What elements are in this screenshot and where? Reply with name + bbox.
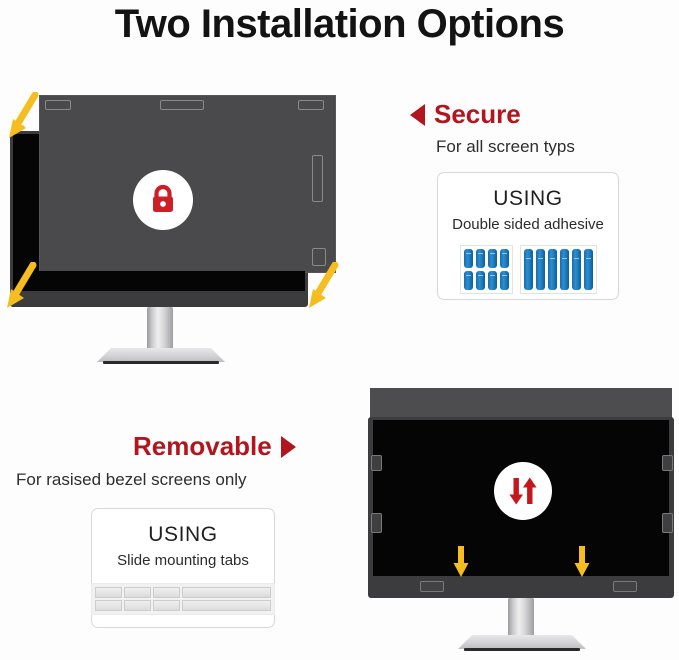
monitor-screen-lower xyxy=(13,271,305,291)
bezel-tab-bottom-left xyxy=(420,581,444,592)
adhesive-strip xyxy=(464,249,473,268)
adhesive-group-tall xyxy=(520,245,597,294)
arrow-diagonal-bottom-right-icon xyxy=(306,262,346,310)
monitor-neck xyxy=(508,598,534,638)
removable-subtitle: For rasised bezel screens only xyxy=(16,470,247,490)
slide-mounting-tabs-icon xyxy=(91,583,275,615)
removable-using-card: USING Slide mounting tabs xyxy=(91,508,275,628)
tab-bar xyxy=(95,587,122,598)
tab-bar xyxy=(124,587,151,598)
adhesive-strips-icon xyxy=(460,245,597,294)
secure-subtitle: For all screen typs xyxy=(436,137,575,157)
monitor-base xyxy=(97,348,225,362)
adhesive-strip xyxy=(464,271,473,290)
adhesive-strip xyxy=(500,271,509,290)
adhesive-strip xyxy=(488,271,497,290)
adhesive-column xyxy=(500,249,509,290)
adhesive-group-short xyxy=(460,245,513,294)
bezel-tab-left-upper xyxy=(371,455,382,471)
removable-card-subtitle: Slide mounting tabs xyxy=(117,552,249,569)
up-down-arrows-badge xyxy=(494,462,552,520)
secure-heading: Secure xyxy=(410,99,521,130)
tab-bar xyxy=(95,600,122,611)
adhesive-strip xyxy=(488,249,497,268)
filter-notch-top-left xyxy=(45,100,71,110)
removable-heading-label: Removable xyxy=(133,431,272,462)
filter-notch-top-center xyxy=(160,100,204,110)
adhesive-strip xyxy=(536,249,545,290)
bezel-tab-right-lower xyxy=(662,513,673,533)
triangle-right-icon xyxy=(281,436,296,458)
adhesive-column xyxy=(488,249,497,290)
adhesive-column xyxy=(464,249,473,290)
page-title: Two Installation Options xyxy=(0,2,679,47)
monitor-top-band xyxy=(370,388,672,419)
tab-bar xyxy=(182,587,271,598)
adhesive-strip xyxy=(548,249,557,290)
tab-cell-long xyxy=(182,587,271,611)
monitor-base xyxy=(458,635,586,649)
tab-bar xyxy=(182,600,271,611)
tab-bar xyxy=(124,600,151,611)
adhesive-strip xyxy=(560,249,569,290)
monitor-neck xyxy=(147,307,173,351)
arrow-diagonal-bottom-left-icon xyxy=(4,262,44,310)
removable-card-title: USING xyxy=(148,523,218,547)
adhesive-strip xyxy=(476,271,485,290)
removable-heading: Removable xyxy=(133,431,296,462)
arrow-diagonal-top-left-icon xyxy=(6,92,46,140)
tab-cell xyxy=(124,587,151,611)
adhesive-strip xyxy=(572,249,581,290)
padlock-icon xyxy=(146,183,180,217)
filter-notch-right xyxy=(312,155,323,202)
filter-notch-top-right xyxy=(298,100,324,110)
tab-bar xyxy=(153,600,180,611)
bezel-tab-bottom-right xyxy=(613,581,637,592)
arrow-down-left-icon xyxy=(452,546,470,578)
tab-cell xyxy=(95,587,122,611)
tab-bar xyxy=(153,587,180,598)
secure-heading-label: Secure xyxy=(434,99,521,130)
up-down-arrows-icon xyxy=(506,474,540,508)
tab-cell xyxy=(153,587,180,611)
arrow-down-right-icon xyxy=(573,546,591,578)
padlock-badge xyxy=(133,170,193,230)
secure-using-card: USING Double sided adhesive xyxy=(437,172,619,300)
secure-card-title: USING xyxy=(493,187,563,211)
adhesive-strip xyxy=(476,249,485,268)
monitor-base-shadow xyxy=(103,361,219,364)
adhesive-strip xyxy=(524,249,533,290)
adhesive-strip xyxy=(500,249,509,268)
bezel-tab-right-upper xyxy=(662,455,673,471)
triangle-left-icon xyxy=(410,104,425,126)
monitor-base-shadow xyxy=(464,648,580,651)
bezel-tab-left-lower xyxy=(371,513,382,533)
adhesive-column xyxy=(476,249,485,290)
adhesive-strip xyxy=(584,249,593,290)
secure-card-subtitle: Double sided adhesive xyxy=(452,216,604,233)
